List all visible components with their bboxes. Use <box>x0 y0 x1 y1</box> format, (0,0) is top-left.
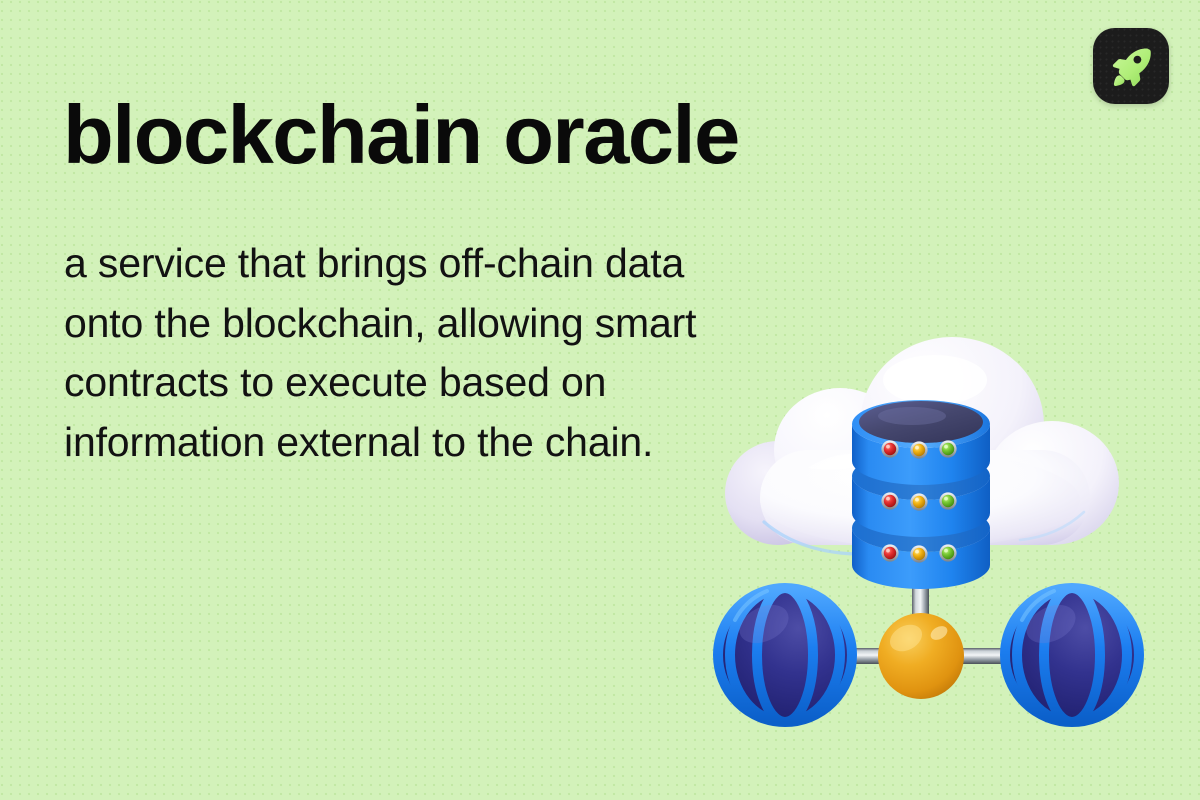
definition-text: a service that brings off-chain data ont… <box>64 234 704 472</box>
status-leds-bottom <box>881 544 956 562</box>
definition-card: blockchain oracle a service that brings … <box>0 0 1200 800</box>
globe-right <box>1003 586 1141 724</box>
status-leds-top <box>881 440 956 458</box>
center-node <box>878 613 964 699</box>
status-leds-middle <box>881 492 956 510</box>
database-tier-top <box>852 400 990 485</box>
logo-badge[interactable] <box>1093 28 1169 104</box>
rocket-icon <box>1107 42 1155 90</box>
database-stack <box>852 400 990 589</box>
globe-left <box>716 586 854 724</box>
page-title: blockchain oracle <box>63 93 739 176</box>
cloud-database-network-illustration <box>690 300 1150 740</box>
